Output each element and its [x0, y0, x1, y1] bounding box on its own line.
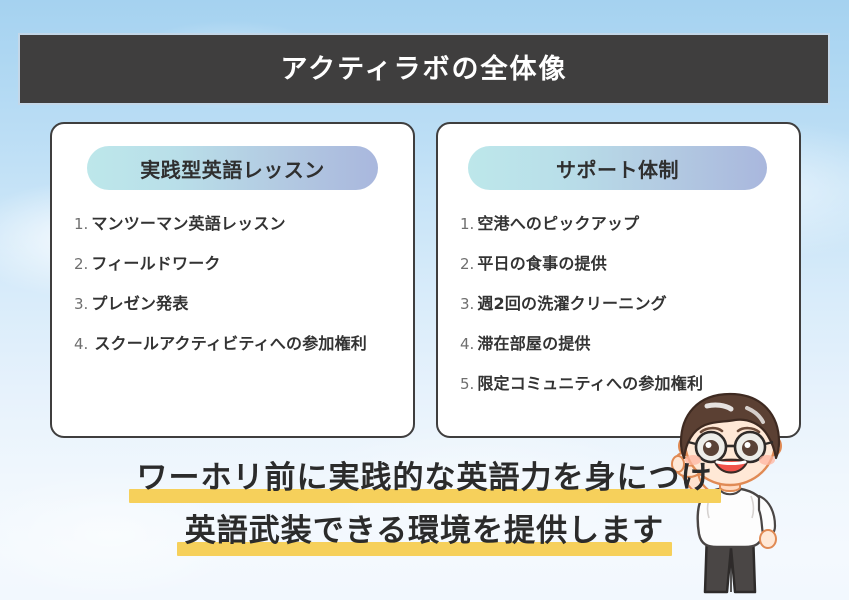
- card-support-title: サポート体制: [556, 154, 679, 183]
- card-support: サポート体制 1. 空港へのピックアップ 2. 平日の食事の提供 3. 週2回の…: [436, 122, 801, 438]
- card-lessons-title: 実践型英語レッスン: [140, 154, 325, 183]
- list-item: 1. マンツーマン英語レッスン: [74, 210, 401, 234]
- list-item-number: 5.: [460, 375, 474, 393]
- list-item-number: 1.: [460, 215, 474, 233]
- footer-line-2-text: 英語武装できる環境を提供します: [183, 505, 666, 550]
- list-item-label: 平日の食事の提供: [477, 250, 607, 274]
- card-lessons-list: 1. マンツーマン英語レッスン 2. フィールドワーク 3. プレゼン発表 4.…: [74, 210, 401, 370]
- list-item-number: 2.: [460, 255, 474, 273]
- list-item: 4. 滞在部屋の提供: [460, 330, 787, 354]
- header-banner: アクティラボの全体像: [18, 33, 830, 105]
- list-item-label: 限定コミュニティへの参加権利: [477, 370, 703, 394]
- list-item-number: 3.: [460, 295, 474, 313]
- card-support-list: 1. 空港へのピックアップ 2. 平日の食事の提供 3. 週2回の洗濯クリーニン…: [460, 210, 787, 410]
- list-item-label: スクールアクティビティへの参加権利: [94, 330, 367, 354]
- list-item: 3. プレゼン発表: [74, 290, 401, 314]
- list-item: 2. 平日の食事の提供: [460, 250, 787, 274]
- list-item: 2. フィールドワーク: [74, 250, 401, 274]
- footer-line-1-text: ワーホリ前に実践的な英語力を身につけ: [135, 452, 715, 497]
- list-item-number: 1.: [74, 215, 88, 233]
- list-item-number: 4.: [74, 335, 88, 353]
- list-item-label: マンツーマン英語レッスン: [91, 210, 285, 234]
- list-item-label: 週2回の洗濯クリーニング: [477, 290, 667, 314]
- list-item: 3. 週2回の洗濯クリーニング: [460, 290, 787, 314]
- card-lessons: 実践型英語レッスン 1. マンツーマン英語レッスン 2. フィールドワーク 3.…: [50, 122, 415, 438]
- slide-canvas: アクティラボの全体像 実践型英語レッスン 1. マンツーマン英語レッスン 2. …: [0, 0, 849, 600]
- card-support-pill: サポート体制: [468, 146, 767, 190]
- list-item: 1. 空港へのピックアップ: [460, 210, 787, 234]
- page-title: アクティラボの全体像: [280, 56, 567, 83]
- list-item-label: 空港へのピックアップ: [477, 210, 639, 234]
- list-item-number: 3.: [74, 295, 88, 313]
- list-item-number: 2.: [74, 255, 88, 273]
- list-item: 4. スクールアクティビティへの参加権利: [74, 330, 401, 354]
- list-item: 5. 限定コミュニティへの参加権利: [460, 370, 787, 394]
- list-item-number: 4.: [460, 335, 474, 353]
- list-item-label: フィールドワーク: [91, 250, 220, 274]
- list-item-label: 滞在部屋の提供: [477, 330, 590, 354]
- card-lessons-pill: 実践型英語レッスン: [87, 146, 378, 190]
- list-item-label: プレゼン発表: [91, 290, 188, 314]
